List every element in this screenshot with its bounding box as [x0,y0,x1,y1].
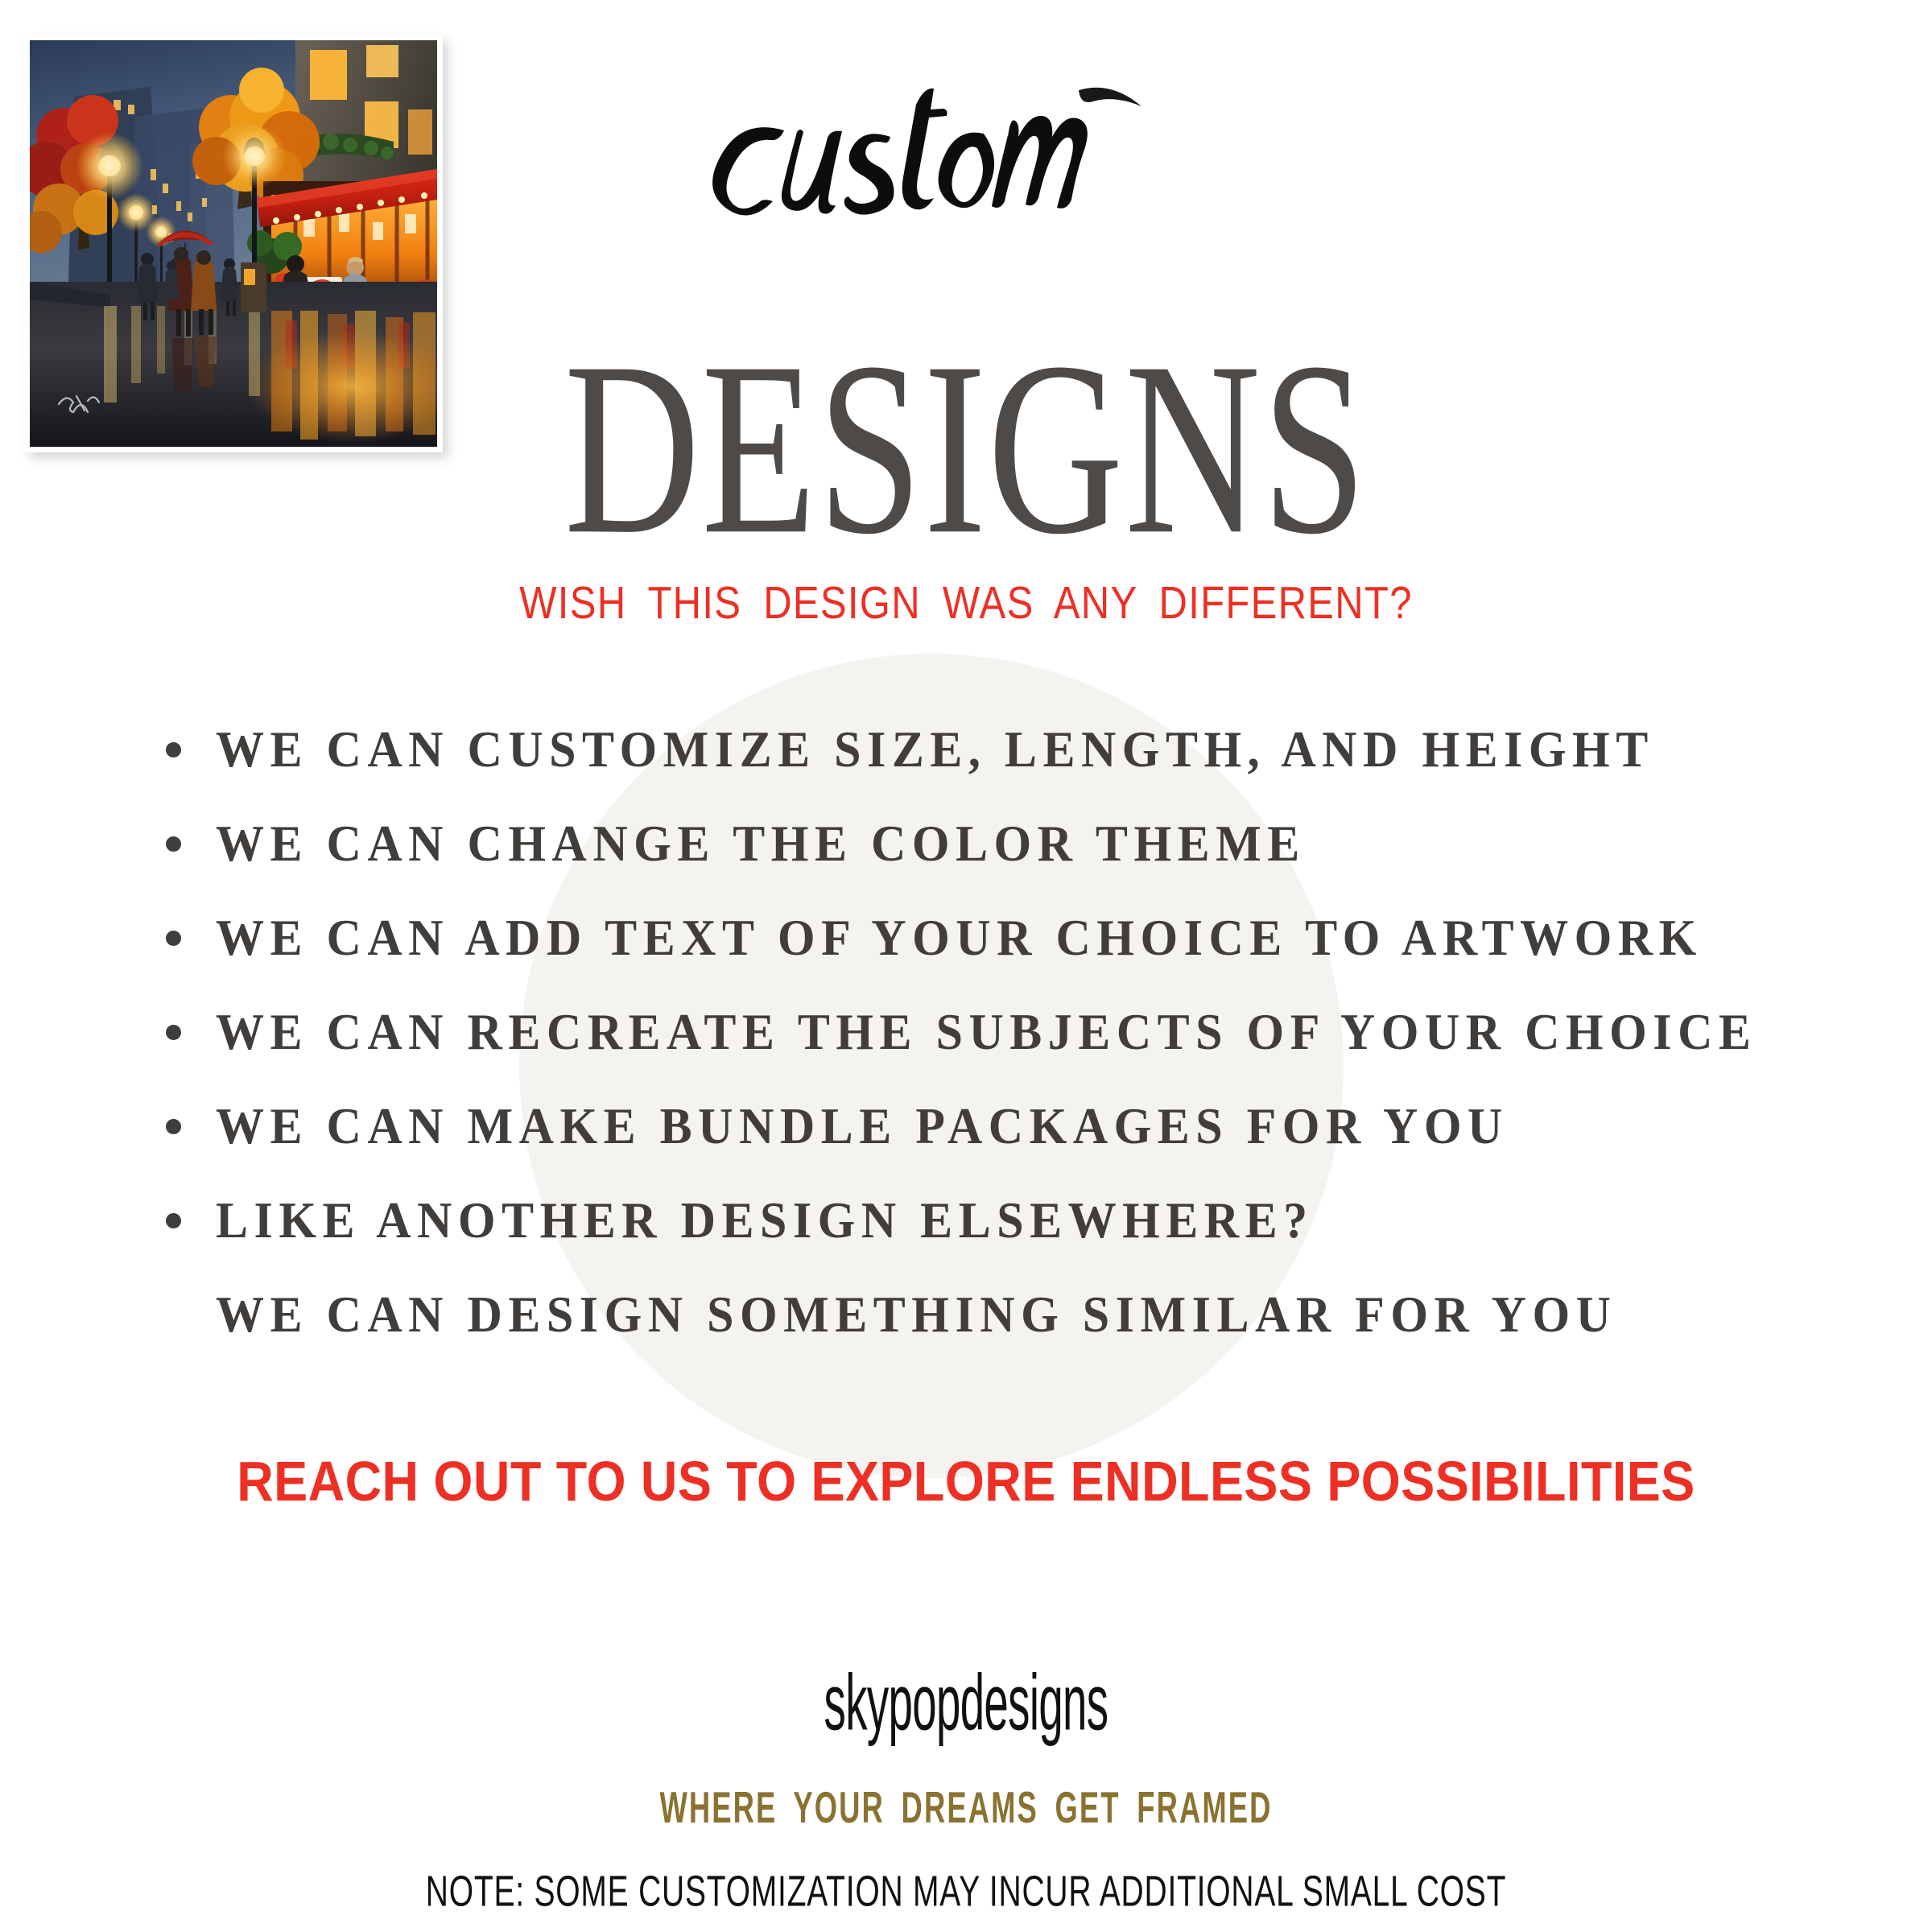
bullet-dot-icon [166,931,181,946]
list-item: LIKE ANOTHER DESIGN ELSEWHERE? [0,1173,1932,1267]
list-item: WE CAN MAKE BUNDLE PACKAGES FOR YOU [0,1079,1932,1173]
bullet-dot-icon [166,836,181,852]
bullet-dot-icon [166,742,181,758]
subtitle: WISH THIS DESIGN WAS ANY DIFFERENT? [135,576,1797,630]
list-item-label: WE CAN CHANGE THE COLOR THEME [216,817,1306,870]
list-item-label: WE CAN ADD TEXT OF YOUR CHOICE TO ARTWOR… [216,911,1703,964]
benefits-list: WE CAN CUSTOMIZE SIZE, LENGTH, AND HEIGH… [0,702,1932,1361]
list-item: WE CAN CHANGE THE COLOR THEME [0,796,1932,890]
list-item-continuation: WE CAN DESIGN SOMETHING SIMILAR FOR YOU [0,1267,1932,1361]
bullet-dot-icon [166,1213,181,1228]
bullet-dot-icon [166,1025,181,1040]
bullet-dot-icon [166,1119,181,1134]
list-item-label: LIKE ANOTHER DESIGN ELSEWHERE? [216,1194,1314,1247]
list-item: WE CAN ADD TEXT OF YOUR CHOICE TO ARTWOR… [0,890,1932,985]
call-to-action[interactable]: REACH OUT TO US TO EXPLORE ENDLESS POSSI… [97,1449,1835,1513]
list-item: WE CAN CUSTOMIZE SIZE, LENGTH, AND HEIGH… [0,702,1932,796]
promo-poster: DESIGNS WISH THIS DESIGN WAS ANY DIFFERE… [0,0,1932,1932]
painting-image [30,40,437,447]
list-item: WE CAN RECREATE THE SUBJECTS OF YOUR CHO… [0,985,1932,1079]
list-item-label: WE CAN MAKE BUNDLE PACKAGES FOR YOU [216,1100,1509,1153]
brand-tagline: WHERE YOUR DREAMS GET FRAMED [290,1782,1642,1834]
disclaimer-note: NOTE: SOME CUSTOMIZATION MAY INCUR ADDIT… [213,1866,1719,1917]
list-item-label: WE CAN DESIGN SOMETHING SIMILAR FOR YOU [216,1288,1616,1341]
list-item-label: WE CAN RECREATE THE SUBJECTS OF YOUR CHO… [216,1005,1757,1059]
product-thumbnail[interactable] [24,35,443,452]
list-item-label: WE CAN CUSTOMIZE SIZE, LENGTH, AND HEIGH… [216,723,1654,776]
brand-name: skypopdesigns [367,1657,1565,1748]
